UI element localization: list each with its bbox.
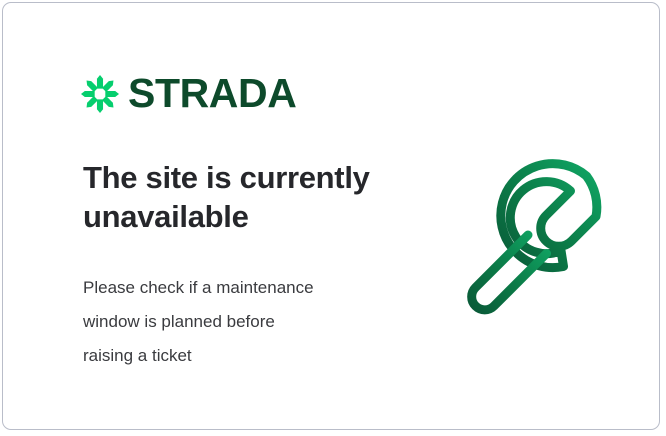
page-title: The site is currently unavailable xyxy=(83,158,413,236)
brand-wordmark: STRADA xyxy=(128,73,296,114)
error-page-card: STRADA The site is currently unavailable… xyxy=(2,2,660,430)
brand-lockup: STRADA xyxy=(81,73,296,114)
description-line: Please check if a maintenance xyxy=(83,271,413,305)
wrench-icon xyxy=(458,158,618,318)
description-line: raising a ticket xyxy=(83,339,413,373)
page-description: Please check if a maintenance window is … xyxy=(83,271,413,373)
starburst-asterisk-icon xyxy=(81,75,119,113)
description-line: window is planned before xyxy=(83,305,413,339)
